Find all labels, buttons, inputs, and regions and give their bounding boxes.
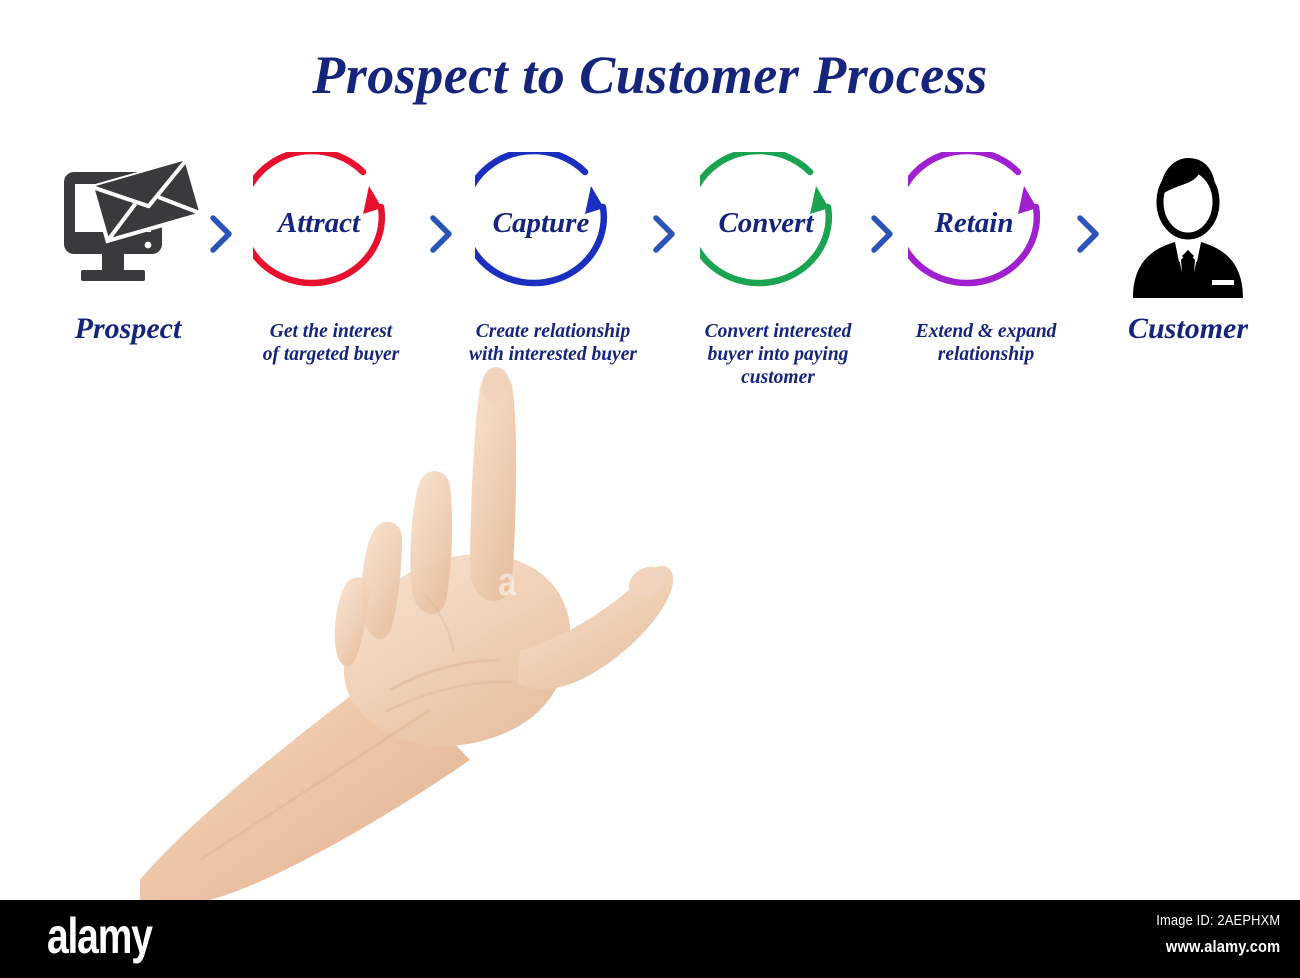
flow-node-retain[interactable]: Retain Extend & expand relationship: [896, 150, 1076, 366]
attract-art: Attract: [241, 150, 421, 300]
caption-line: Extend & expand: [898, 320, 1074, 343]
chevron-right-icon: [648, 212, 680, 256]
caption-line: with interested buyer: [465, 343, 641, 366]
flow-node-attract[interactable]: Attract Get the interest of targeted buy…: [241, 150, 421, 366]
alamy-ghost-watermark: a: [498, 560, 516, 605]
flow-node-capture-caption: Create relationship with interested buye…: [463, 320, 643, 366]
caption-line: of targeted buyer: [243, 343, 419, 366]
process-flow: Prospect Attract Get the interest of ta: [0, 150, 1300, 400]
businessman-icon: [1113, 150, 1263, 300]
caption-line: relationship: [898, 343, 1074, 366]
caption-line: Create relationship: [465, 320, 641, 343]
flow-node-convert-caption: Convert interested buyer into paying cus…: [688, 320, 868, 389]
customer-art: [1098, 150, 1278, 300]
flow-node-retain-caption: Extend & expand relationship: [896, 320, 1076, 366]
convert-art: Convert: [688, 150, 868, 300]
flow-node-prospect[interactable]: Prospect: [38, 150, 218, 345]
flow-node-convert[interactable]: Convert Convert interested buyer into pa…: [688, 150, 868, 389]
caption-line: buyer into paying: [690, 343, 866, 366]
chevron-right-icon: [425, 212, 457, 256]
page-title: Prospect to Customer Process: [0, 44, 1300, 106]
circular-arrow-icon: [700, 152, 856, 298]
alamy-watermark-bar: alamy Image ID: 2AEPHXM www.alamy.com: [0, 900, 1300, 978]
flow-node-customer[interactable]: Customer: [1098, 150, 1278, 345]
watermark-image-id: Image ID: 2AEPHXM: [1156, 912, 1280, 929]
watermark-meta: Image ID: 2AEPHXM www.alamy.com: [1136, 912, 1280, 957]
caption-line: Get the interest: [243, 320, 419, 343]
flow-node-prospect-label: Prospect: [38, 312, 218, 345]
prospect-art: [38, 150, 218, 300]
flow-node-attract-caption: Get the interest of targeted buyer: [241, 320, 421, 366]
caption-line: customer: [690, 366, 866, 389]
flow-node-customer-label: Customer: [1098, 312, 1278, 345]
circular-arrow-icon: [908, 152, 1064, 298]
capture-art: Capture: [463, 150, 643, 300]
chevron-right-icon: [205, 212, 237, 256]
alamy-logo: alamy: [47, 911, 152, 961]
circular-arrow-icon: [253, 152, 409, 298]
chevron-right-icon: [866, 212, 898, 256]
monitor-envelope-icon: [53, 150, 203, 300]
diagram-canvas: Prospect to Customer Process: [0, 0, 1300, 978]
pointing-hand-photo: [140, 360, 710, 900]
caption-line: Convert interested: [690, 320, 866, 343]
retain-art: Retain: [896, 150, 1076, 300]
watermark-url[interactable]: www.alamy.com: [1156, 937, 1280, 957]
flow-node-capture[interactable]: Capture Create relationship with interes…: [463, 150, 643, 366]
circular-arrow-icon: [475, 152, 631, 298]
